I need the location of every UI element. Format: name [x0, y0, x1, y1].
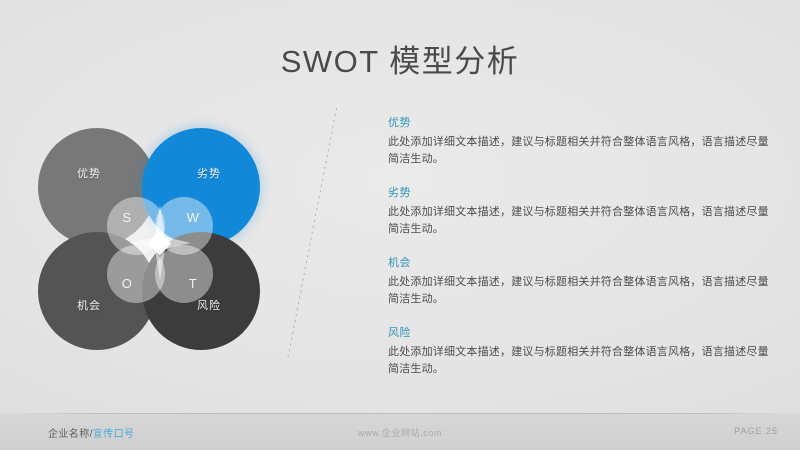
swot-letter-o: O: [122, 276, 133, 291]
swot-circle-label-strength: 优势: [77, 165, 101, 181]
swot-circle-label-weakness: 劣势: [197, 165, 221, 181]
swot-description-title-threat: 风险: [388, 324, 770, 340]
swot-description-body-threat: 此处添加详细文本描述，建议与标题相关并符合整体语言风格，语言描述尽量简洁生动。: [388, 344, 770, 378]
swot-venn-diagram: 优势 劣势 机会 风险 S W O T: [38, 128, 282, 358]
swot-description-weakness: 劣势 此处添加详细文本描述，建议与标题相关并符合整体语言风格，语言描述尽量简洁生…: [388, 184, 770, 238]
swot-circle-label-threat: 风险: [197, 297, 221, 313]
slide-footer: 企业名称/宣传口号 www.企业网站.com PAGE 25: [0, 414, 800, 450]
swot-description-strength: 优势 此处添加详细文本描述，建议与标题相关并符合整体语言风格，语言描述尽量简洁生…: [388, 114, 770, 168]
dotted-divider: [287, 108, 337, 361]
swot-description-opportunity: 机会 此处添加详细文本描述，建议与标题相关并符合整体语言风格，语言描述尽量简洁生…: [388, 254, 770, 308]
swot-letter-t: T: [189, 276, 197, 291]
slide-canvas: SWOT 模型分析 优势 劣势 机会 风险 S W O T: [0, 0, 800, 450]
footer-website[interactable]: www.企业网站.com: [0, 426, 800, 439]
footer-page-number: PAGE 25: [734, 426, 778, 436]
swot-description-list: 优势 此处添加详细文本描述，建议与标题相关并符合整体语言风格，语言描述尽量简洁生…: [388, 114, 770, 378]
page-title: SWOT 模型分析: [0, 36, 800, 81]
swot-description-title-opportunity: 机会: [388, 254, 770, 270]
swot-letter-s: S: [122, 210, 131, 225]
swot-description-body-opportunity: 此处添加详细文本描述，建议与标题相关并符合整体语言风格，语言描述尽量简洁生动。: [388, 274, 770, 308]
swot-letter-w: W: [187, 210, 200, 225]
swot-description-title-strength: 优势: [388, 114, 770, 130]
swot-description-threat: 风险 此处添加详细文本描述，建议与标题相关并符合整体语言风格，语言描述尽量简洁生…: [388, 324, 770, 378]
swot-description-body-weakness: 此处添加详细文本描述，建议与标题相关并符合整体语言风格，语言描述尽量简洁生动。: [388, 204, 770, 238]
swot-circle-label-opportunity: 机会: [77, 297, 101, 313]
swot-description-body-strength: 此处添加详细文本描述，建议与标题相关并符合整体语言风格，语言描述尽量简洁生动。: [388, 134, 770, 168]
swot-description-title-weakness: 劣势: [388, 184, 770, 200]
